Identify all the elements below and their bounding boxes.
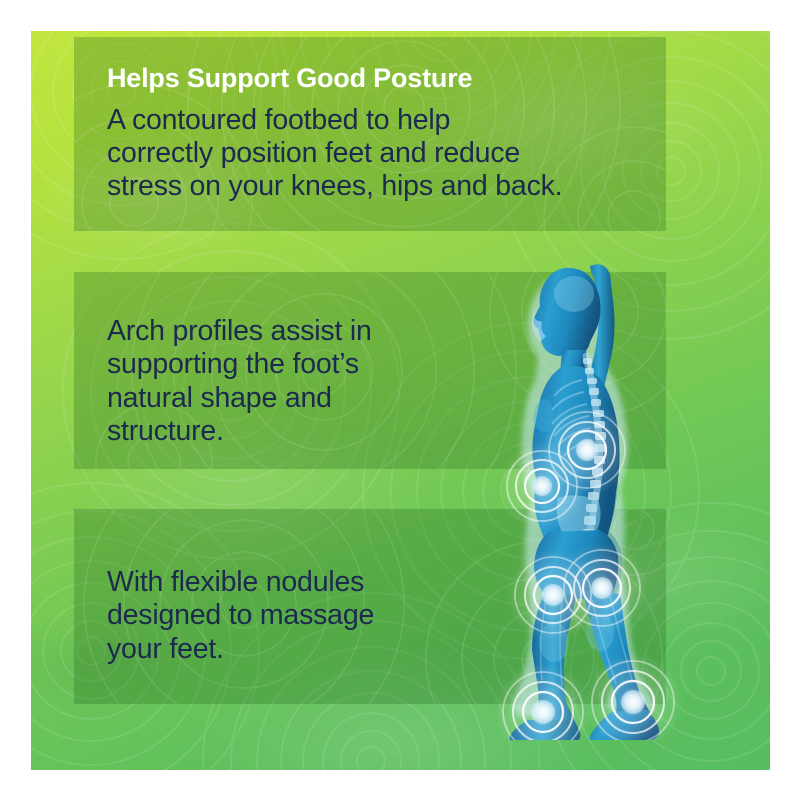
panel-1-text-block: Helps Support Good Posture A contoured f… xyxy=(74,37,666,204)
page-frame-left xyxy=(0,0,31,800)
page-frame-top xyxy=(0,0,800,31)
page-frame-right xyxy=(770,0,800,800)
panel-3-text-block: With flexible nodules designed to massag… xyxy=(74,509,666,666)
panel-helps-support-good-posture: Helps Support Good Posture A contoured f… xyxy=(74,37,666,231)
panel-1-body: A contoured footbed to help correctly po… xyxy=(107,104,666,204)
panel-3-body: With flexible nodules designed to massag… xyxy=(107,566,666,666)
panel-1-title: Helps Support Good Posture xyxy=(107,64,666,94)
panel-2-text-block: Arch profiles assist in supporting the f… xyxy=(74,272,666,448)
panel-arch-profiles: Arch profiles assist in supporting the f… xyxy=(74,272,666,469)
infographic-root: Helps Support Good Posture A contoured f… xyxy=(0,0,800,800)
panel-flexible-nodules: With flexible nodules designed to massag… xyxy=(74,509,666,704)
panel-2-body: Arch profiles assist in supporting the f… xyxy=(107,315,666,448)
page-frame-bottom xyxy=(0,770,800,800)
